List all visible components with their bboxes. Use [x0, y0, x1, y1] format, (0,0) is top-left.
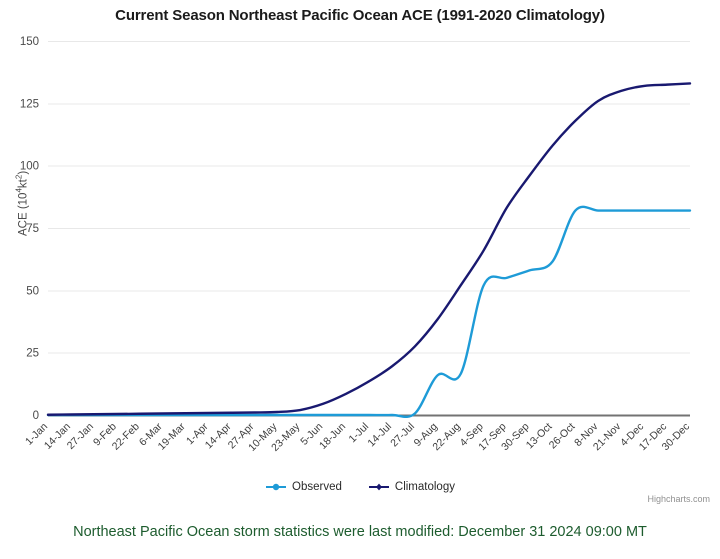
svg-text:27-Jul: 27-Jul	[388, 421, 417, 450]
y-axis-tick-labels: 0255075100125150	[20, 36, 39, 422]
chart-container: Current Season Northeast Pacific Ocean A…	[0, 0, 720, 515]
svg-text:25: 25	[26, 348, 39, 360]
last-modified-note: Northeast Pacific Ocean storm statistics…	[0, 524, 720, 540]
svg-text:14-Jul: 14-Jul	[365, 421, 394, 450]
svg-text:50: 50	[26, 285, 39, 297]
svg-text:27-Jan: 27-Jan	[65, 421, 96, 452]
svg-text:150: 150	[20, 36, 39, 48]
legend-marker-observed-icon	[265, 481, 287, 493]
svg-text:26-Oct: 26-Oct	[547, 421, 578, 452]
chart-plot-area: 0255075100125150 1-Jan14-Jan27-Jan9-Feb2…	[0, 0, 720, 515]
chart-legend: Observed Climatology	[0, 481, 720, 493]
x-axis-tick-labels: 1-Jan14-Jan27-Jan9-Feb22-Feb6-Mar19-Mar1…	[23, 420, 692, 454]
svg-text:125: 125	[20, 98, 39, 110]
data-series	[48, 83, 690, 416]
svg-text:75: 75	[26, 223, 39, 235]
series-line-climatology	[48, 83, 690, 414]
svg-text:18-Jun: 18-Jun	[317, 421, 348, 452]
legend-marker-climatology-icon	[368, 481, 390, 493]
svg-text:100: 100	[20, 161, 39, 173]
legend-label-climatology: Climatology	[395, 481, 455, 493]
highcharts-credits[interactable]: Highcharts.com	[647, 494, 710, 504]
legend-item-observed[interactable]: Observed	[265, 481, 342, 493]
svg-text:0: 0	[33, 410, 39, 422]
gridlines	[48, 42, 690, 354]
legend-label-observed: Observed	[292, 481, 342, 493]
series-line-observed	[48, 207, 690, 417]
legend-item-climatology[interactable]: Climatology	[368, 481, 455, 493]
